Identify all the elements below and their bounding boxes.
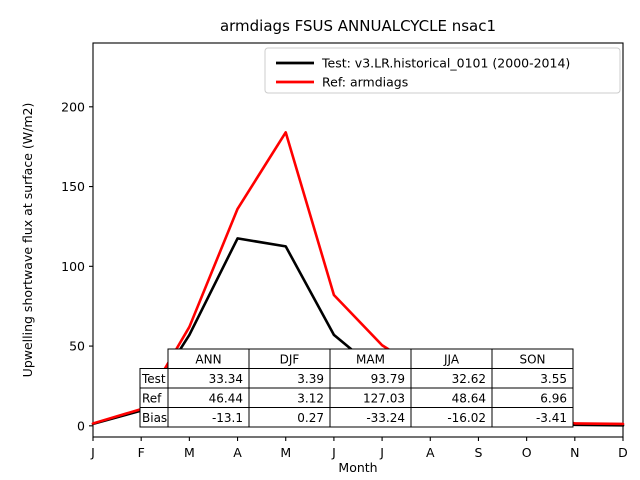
table-row-label: Test	[141, 372, 166, 386]
table-cell-value: 46.44	[209, 391, 243, 405]
x-tick-label: M	[184, 445, 195, 460]
y-tick-label: 150	[61, 179, 85, 194]
table-cell-value: -3.41	[536, 411, 567, 425]
y-axis-label: Upwelling shortwave flux at surface (W/m…	[20, 103, 35, 378]
table-cell-value: 0.27	[297, 411, 324, 425]
table-cell-value: 48.64	[452, 391, 486, 405]
y-tick-label: 50	[69, 339, 85, 354]
table-column-header: DJF	[280, 352, 300, 366]
table-cell-value: -13.1	[212, 411, 243, 425]
x-tick-label: J	[379, 445, 384, 460]
table-cell-value: 127.03	[363, 391, 405, 405]
table-column-header: JJA	[443, 352, 460, 366]
x-tick-label: N	[570, 445, 579, 460]
legend-label: Ref: armdiags	[322, 75, 408, 90]
table-cell-value: 3.39	[297, 372, 324, 386]
legend-label: Test: v3.LR.historical_0101 (2000-2014)	[321, 56, 570, 71]
table-row	[140, 408, 573, 428]
x-tick-label: F	[138, 445, 145, 460]
table-column-header: ANN	[195, 352, 221, 366]
table-cell-value: 93.79	[371, 372, 405, 386]
table-row-label: Bias	[142, 411, 167, 425]
x-tick-label: A	[233, 445, 242, 460]
table-cell-value: 3.55	[540, 372, 567, 386]
table-cell-value: 3.12	[297, 391, 324, 405]
table-column-header: MAM	[356, 352, 385, 366]
summary-statistics-table: ANNDJFMAMJJASONTest33.343.3993.7932.623.…	[140, 349, 573, 427]
annual-cycle-line-chart: armdiags FSUS ANNUALCYCLE nsac1 05010015…	[0, 0, 640, 480]
table-row	[140, 388, 573, 408]
table-row-label: Ref	[142, 391, 162, 405]
x-tick-label: J	[331, 445, 336, 460]
x-tick-label: O	[522, 445, 532, 460]
x-tick-label: J	[90, 445, 95, 460]
x-axis-label: Month	[338, 460, 377, 475]
x-tick-label: D	[618, 445, 628, 460]
table-cell-value: 6.96	[540, 391, 567, 405]
table-row	[140, 369, 573, 389]
x-tick-label: S	[474, 445, 482, 460]
chart-title: armdiags FSUS ANNUALCYCLE nsac1	[220, 17, 496, 35]
figure-canvas: armdiags FSUS ANNUALCYCLE nsac1 05010015…	[0, 0, 640, 480]
table-cell-value: -16.02	[447, 411, 486, 425]
y-tick-label: 0	[77, 418, 85, 433]
chart-legend[interactable]: Test: v3.LR.historical_0101 (2000-2014)R…	[265, 48, 620, 93]
x-tick-label: A	[426, 445, 435, 460]
table-cell-value: 32.62	[452, 372, 486, 386]
table-cell-value: -33.24	[366, 411, 405, 425]
table-column-header: SON	[519, 352, 545, 366]
x-tick-label: M	[280, 445, 291, 460]
y-tick-label: 200	[61, 99, 85, 114]
table-cell-value: 33.34	[209, 372, 243, 386]
y-tick-label: 100	[61, 259, 85, 274]
